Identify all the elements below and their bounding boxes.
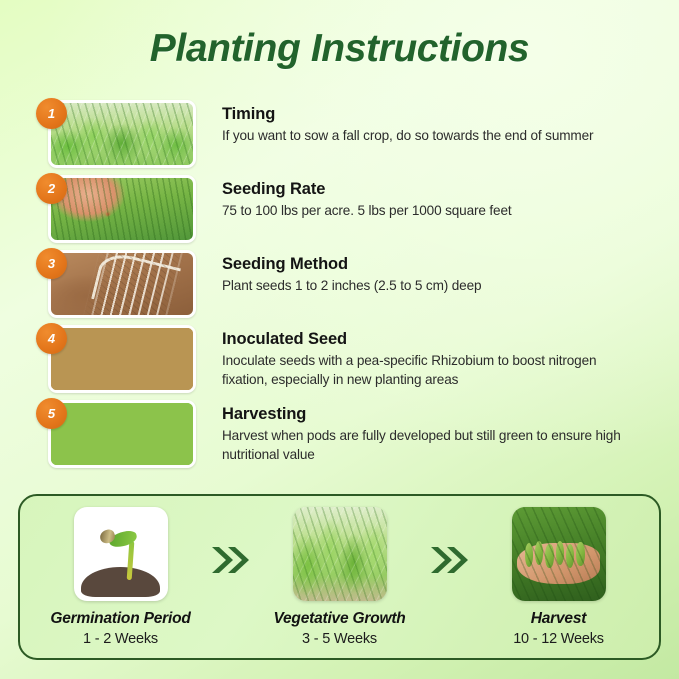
timeline-stage-label: Germination Period: [50, 610, 190, 628]
step-description: Harvest when pods are fully developed bu…: [222, 427, 642, 464]
seedlings-photo: [48, 100, 196, 168]
palm-art: [517, 543, 600, 584]
timeline-stage-harvest: Harvest 10 - 12 Weeks: [472, 507, 645, 647]
hand-harvesting-pods-photo: [48, 400, 196, 468]
timeline-stage-duration: 10 - 12 Weeks: [513, 631, 604, 647]
step-number-badge: 4: [36, 323, 67, 354]
step-item: 1 Timing If you want to sow a fall crop,…: [36, 100, 646, 175]
rake-on-soil-photo-art: [51, 253, 193, 315]
harvested-pea-pods-photo: [512, 507, 606, 601]
step-description: 75 to 100 lbs per acre. 5 lbs per 1000 s…: [222, 202, 642, 221]
step-number-badge: 2: [36, 173, 67, 204]
planting-instructions-infographic: Planting Instructions 1 Timing If you wa…: [0, 0, 679, 679]
seed-pile-photo-art: [51, 328, 193, 390]
step-number-badge: 3: [36, 248, 67, 279]
hand-sowing-seeds-photo: [48, 175, 196, 243]
step-description: If you want to sow a fall crop, do so to…: [222, 127, 642, 146]
soil-art: [81, 567, 160, 597]
timeline-stage-label: Vegetative Growth: [273, 610, 405, 628]
step-thumbnail-wrap: 4: [48, 325, 196, 393]
step-description: Inoculate seeds with a pea-specific Rhiz…: [222, 352, 642, 389]
pod-art: [525, 543, 533, 567]
seedlings-photo-art: [51, 103, 193, 165]
double-chevron-right-icon: [207, 543, 253, 577]
step-text-block: Timing If you want to sow a fall crop, d…: [222, 100, 642, 146]
timeline-stage-vegetative: Vegetative Growth 3 - 5 Weeks: [253, 507, 426, 647]
step-item: 3 Seeding Method Plant seeds 1 to 2 inch…: [36, 250, 646, 325]
timeline-stage-label: Harvest: [531, 610, 586, 628]
step-item: 5 Harvesting Harvest when pods are fully…: [36, 400, 646, 475]
hand-sowing-seeds-photo-art: [51, 178, 193, 240]
sprouting-seed-photo: [74, 507, 168, 601]
step-thumbnail-wrap: 3: [48, 250, 196, 318]
timeline-stage-duration: 1 - 2 Weeks: [83, 631, 158, 647]
step-thumbnail-wrap: 5: [48, 400, 196, 468]
hand-harvesting-pods-photo-art: [51, 403, 193, 465]
timeline-stage-germination: Germination Period 1 - 2 Weeks: [34, 507, 207, 647]
pea-plants-photo: [293, 507, 387, 601]
step-item: 4 Inoculated Seed Inoculate seeds with a…: [36, 325, 646, 400]
step-title: Seeding Rate: [222, 179, 642, 200]
pod-art: [545, 544, 553, 568]
double-chevron-right-icon: [426, 543, 472, 577]
step-thumbnail-wrap: 2: [48, 175, 196, 243]
pod-art: [566, 544, 574, 568]
pod-art: [576, 542, 584, 566]
step-description: Plant seeds 1 to 2 inches (2.5 to 5 cm) …: [222, 277, 642, 296]
step-title: Harvesting: [222, 404, 642, 425]
step-text-block: Inoculated Seed Inoculate seeds with a p…: [222, 325, 642, 389]
step-title: Inoculated Seed: [222, 329, 642, 350]
growth-timeline-panel: Germination Period 1 - 2 Weeks Vegetativ…: [18, 494, 661, 660]
step-text-block: Seeding Rate 75 to 100 lbs per acre. 5 l…: [222, 175, 642, 221]
pod-art: [535, 541, 543, 565]
step-thumbnail-wrap: 1: [48, 100, 196, 168]
timeline-stage-duration: 3 - 5 Weeks: [302, 631, 377, 647]
seed-pile-photo: [48, 325, 196, 393]
step-number-badge: 5: [36, 398, 67, 429]
step-text-block: Seeding Method Plant seeds 1 to 2 inches…: [222, 250, 642, 296]
pod-art: [556, 541, 564, 565]
page-title: Planting Instructions: [0, 26, 679, 72]
step-item: 2 Seeding Rate 75 to 100 lbs per acre. 5…: [36, 175, 646, 250]
step-title: Seeding Method: [222, 254, 642, 275]
steps-list: 1 Timing If you want to sow a fall crop,…: [36, 100, 646, 475]
step-text-block: Harvesting Harvest when pods are fully d…: [222, 400, 642, 464]
step-number-badge: 1: [36, 98, 67, 129]
step-title: Timing: [222, 104, 642, 125]
rake-on-soil-photo: [48, 250, 196, 318]
